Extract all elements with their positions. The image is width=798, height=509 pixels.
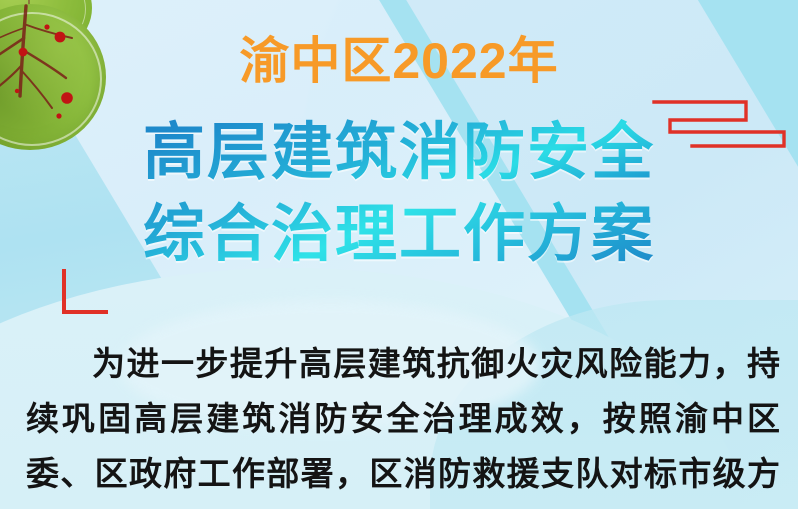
poster-body-text: 为进一步提升高层建筑抗御火灾风险能力，持续巩固高层建筑消防安全治理成效，按照渝中… (26, 336, 780, 509)
headline-line-1: 高层建筑消防安全 (0, 112, 798, 194)
poster-canvas: 渝中区2022年 高层建筑消防安全 综合治理工作方案 为进一步提升高层建筑抗御火… (0, 0, 798, 509)
poster-subtitle: 渝中区2022年 (0, 32, 798, 90)
poster-headline: 高层建筑消防安全 综合治理工作方案 (0, 112, 798, 276)
headline-line-2: 综合治理工作方案 (0, 194, 798, 276)
